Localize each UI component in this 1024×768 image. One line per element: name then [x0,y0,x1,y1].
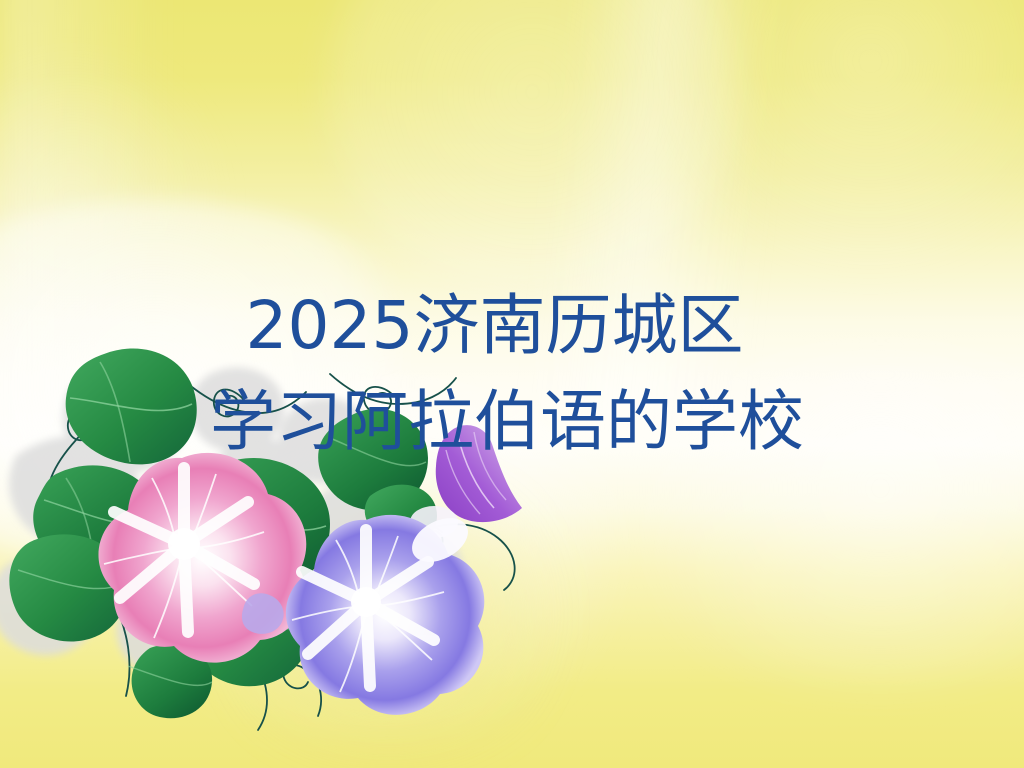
title-slide: 2025济南历城区 学习阿拉伯语的学校 [0,0,1024,768]
title-line-2: 学习阿拉伯语的学校 [0,374,1024,470]
title-line-1: 2025济南历城区 [0,278,1024,374]
slide-title-block: 2025济南历城区 学习阿拉伯语的学校 [0,278,1024,471]
